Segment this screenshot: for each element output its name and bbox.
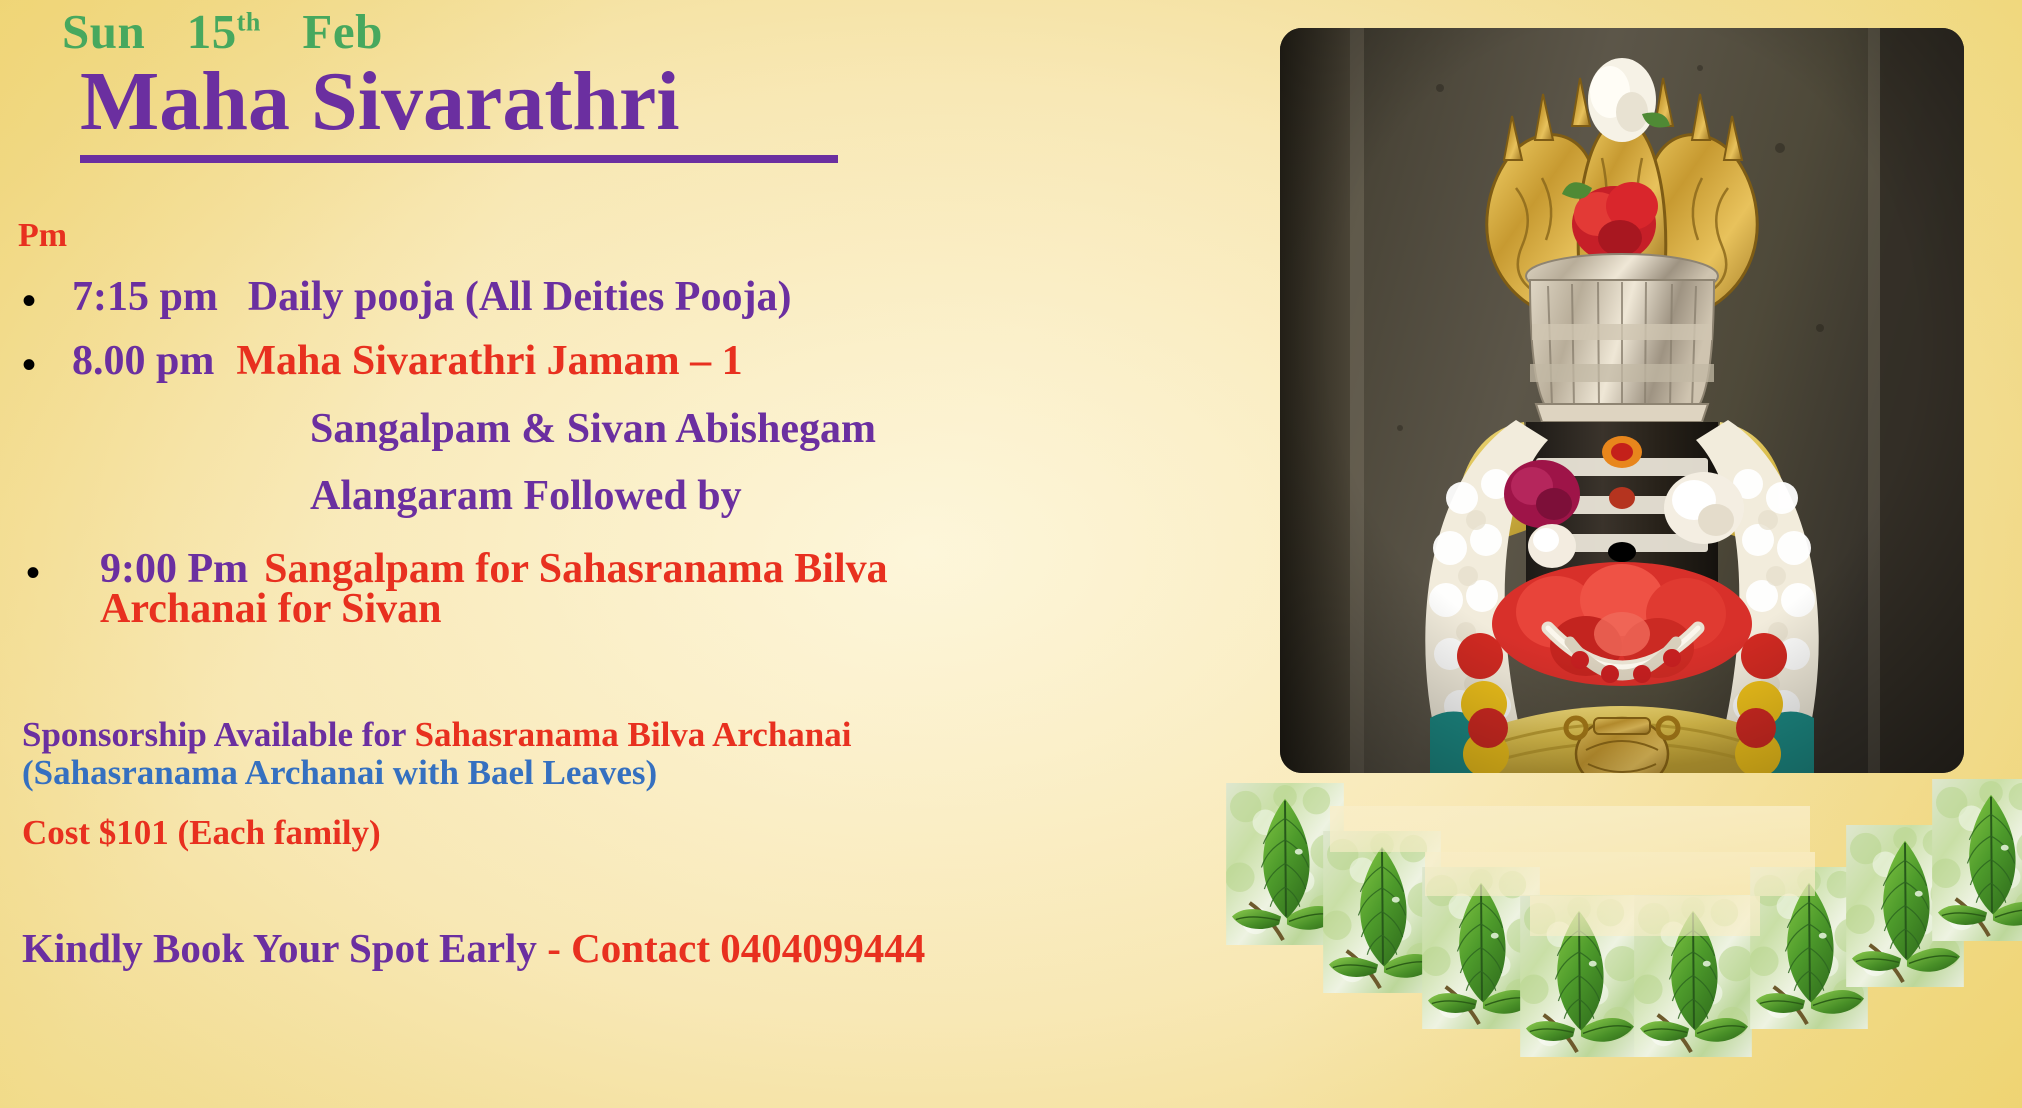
- title-underline: [80, 155, 838, 163]
- shiva-lingam-deity-photo: [1280, 28, 1964, 773]
- photo-fade-overlay: [1530, 896, 1760, 936]
- schedule-continuation-line: Alangaram Followed by: [310, 472, 742, 520]
- page-title: Maha Sivarathri: [80, 58, 680, 146]
- booking-lead: Kindly Book Your Spot Early: [22, 925, 547, 971]
- booking-contact: Contact 0404099444: [571, 925, 925, 971]
- bullet-icon: •: [22, 345, 36, 385]
- bullet-icon: •: [22, 281, 36, 321]
- schedule-description: Daily pooja (All Deities Pooja): [248, 274, 792, 320]
- schedule-time: 7:15 pm: [72, 274, 218, 320]
- bael-leaf-tile: [1932, 779, 2022, 941]
- booking-line: Kindly Book Your Spot Early - Contact 04…: [22, 924, 925, 972]
- schedule-row-body: 8.00 pmMaha Sivarathri Jamam – 1: [72, 337, 743, 385]
- sponsorship-cost: Cost $101 (Each family): [22, 813, 381, 853]
- event-date-month: Feb: [302, 4, 382, 59]
- poster-text-column: Sun 15th Feb Maha Sivarathri Pm • 7:15 p…: [0, 0, 1270, 1108]
- schedule-description-line2: Archanai for Sivan: [100, 585, 442, 633]
- sponsorship-subtitle: (Sahasranama Archanai with Bael Leaves): [22, 753, 657, 793]
- sponsorship-line: Sponsorship Available for Sahasranama Bi…: [22, 715, 852, 755]
- sponsorship-highlight: Sahasranama Bilva Archanai: [415, 715, 852, 754]
- sponsorship-lead: Sponsorship Available for: [22, 715, 415, 754]
- section-label-pm: Pm: [18, 217, 67, 255]
- event-date: Sun 15th Feb: [62, 3, 383, 60]
- poster-canvas: Sun 15th Feb Maha Sivarathri Pm • 7:15 p…: [0, 0, 2022, 1108]
- event-date-weekday: Sun: [62, 4, 145, 59]
- bullet-icon: •: [26, 553, 40, 593]
- schedule-row-body: 7:15 pmDaily pooja (All Deities Pooja): [72, 273, 791, 321]
- deity-illustration: [1280, 28, 1964, 773]
- event-date-day: 15: [187, 4, 237, 59]
- schedule-description: Maha Sivarathri Jamam – 1: [236, 338, 742, 384]
- photo-fade-overlay: [1425, 852, 1815, 896]
- event-date-ordinal: th: [237, 8, 261, 37]
- booking-separator: -: [547, 925, 571, 971]
- schedule-continuation-line: Sangalpam & Sivan Abishegam: [310, 405, 876, 453]
- schedule-time: 8.00 pm: [72, 338, 214, 384]
- photo-fade-overlay: [1330, 806, 1810, 852]
